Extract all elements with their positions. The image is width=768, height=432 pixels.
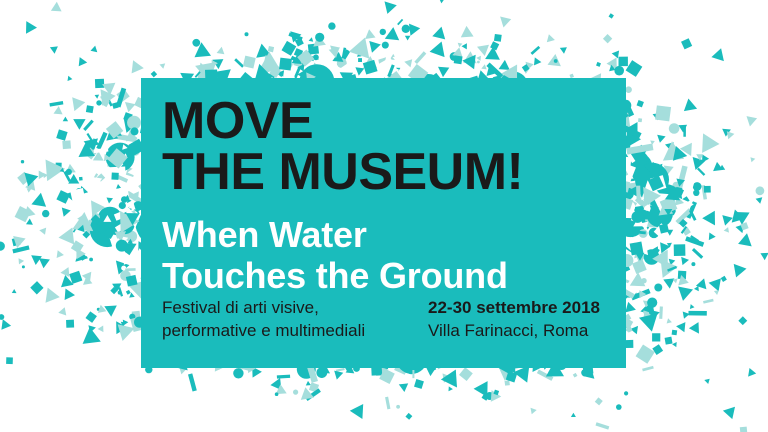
content-panel: MOVE THE MUSEUM! When Water Touches the … bbox=[141, 78, 626, 368]
caption-row: Festival di arti visive, performative e … bbox=[162, 296, 622, 342]
subhead-line-1: When Water bbox=[162, 214, 606, 255]
event-dates: 22-30 settembre 2018 bbox=[428, 296, 622, 319]
festival-description: Festival di arti visive, performative e … bbox=[162, 296, 428, 342]
subhead-block: When Water Touches the Ground bbox=[162, 214, 606, 296]
headline-line-1: MOVE bbox=[162, 96, 606, 147]
headline-line-2: THE MUSEUM! bbox=[162, 147, 606, 198]
subhead-line-2: Touches the Ground bbox=[162, 255, 606, 296]
headline-block: MOVE THE MUSEUM! bbox=[162, 96, 606, 198]
festival-description-line-1: Festival di arti visive, bbox=[162, 296, 428, 319]
festival-description-line-2: performative e multimediali bbox=[162, 319, 428, 342]
event-venue: Villa Farinacci, Roma bbox=[428, 319, 622, 342]
event-details: 22-30 settembre 2018 Villa Farinacci, Ro… bbox=[428, 296, 622, 342]
poster-canvas: MOVE THE MUSEUM! When Water Touches the … bbox=[0, 0, 768, 432]
